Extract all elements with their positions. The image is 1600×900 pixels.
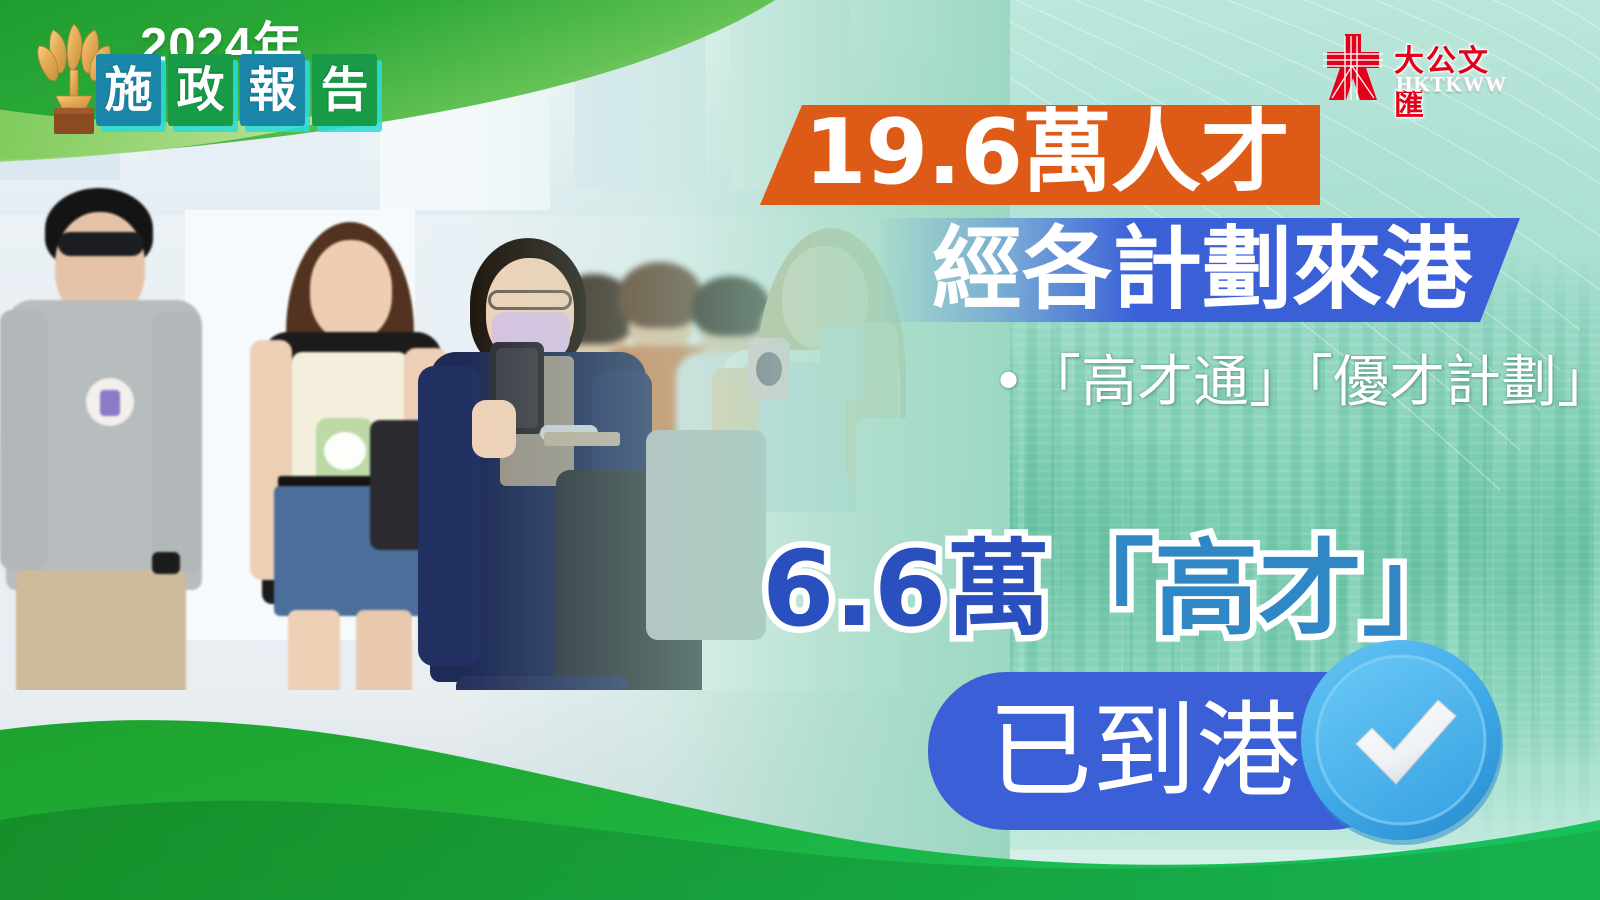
publisher-logo[interactable]: 大公文匯 HKTKWW [1318, 28, 1518, 106]
headline-2-text: 經各計劃來港 [932, 216, 1472, 324]
headline-3-number: 6.6萬 [762, 528, 1050, 650]
infographic-poster: 2024年 施 政 報 告 大公文匯 HKTKWW [0, 0, 1600, 900]
report-char-4: 告 [320, 66, 368, 114]
headline-band-2: 經各計劃來港 [880, 218, 1520, 322]
headline-3-keyword: 「高才」 [1050, 528, 1466, 650]
report-char-2: 政 [176, 66, 224, 114]
headline-4-text: 已到港 [988, 686, 1300, 816]
report-char-box-3: 報 [240, 54, 305, 126]
report-char-3: 報 [248, 66, 296, 114]
report-char-box-2: 政 [168, 54, 233, 126]
report-char-box-1: 施 [96, 54, 161, 126]
headline-3: 6.6萬「高才」 [762, 530, 1466, 648]
report-title-boxes: 施 政 報 告 [96, 54, 377, 126]
scheme-bullet-line: •「高才通」「優才計劃」 [992, 352, 1600, 414]
report-char-1: 施 [104, 66, 152, 114]
hktkww-cross-icon [1318, 32, 1388, 102]
report-char-box-4: 告 [312, 54, 377, 126]
headline-1-text: 19.6萬人才 [804, 101, 1289, 205]
check-circle-icon [1298, 636, 1512, 850]
headline-band-1: 19.6萬人才 [760, 105, 1320, 205]
logo-name-en: HKTKWW [1396, 72, 1507, 97]
